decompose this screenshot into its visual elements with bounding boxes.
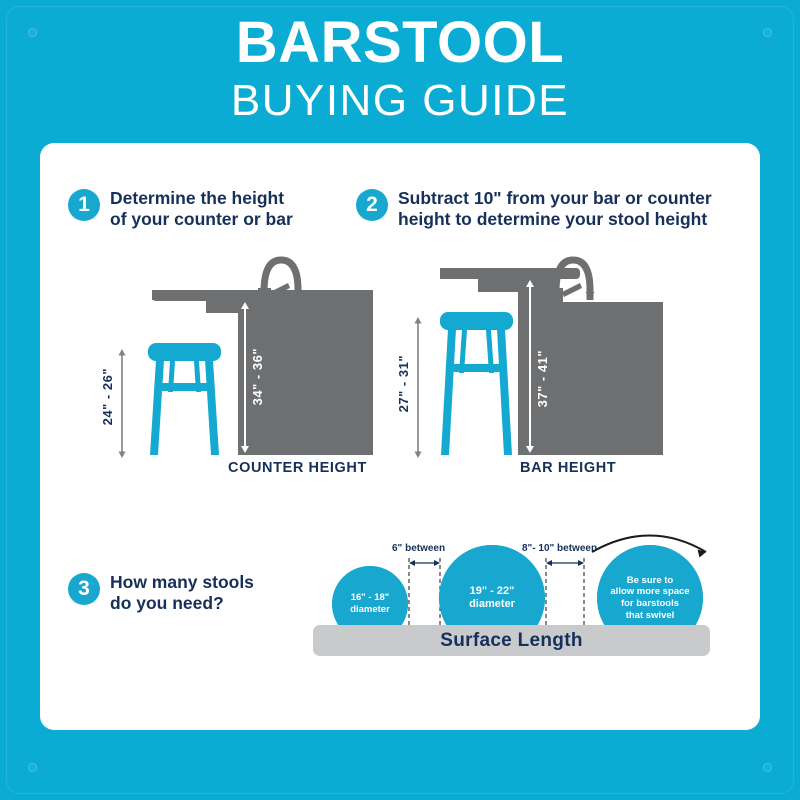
stool-1-diameter-unit: diameter: [350, 604, 390, 616]
gap-2-arrow-left: [546, 560, 552, 566]
gap-2-arrow-right: [578, 560, 584, 566]
gap-2-label: 8"- 10" between: [522, 543, 597, 554]
surface-length-bar: Surface Length: [313, 625, 710, 656]
gap-1-arrow-left: [409, 560, 415, 566]
gap-1-label: 6" between: [392, 543, 445, 554]
stool-spacing-diagram: 6" between 8"- 10" between 16" - 18" dia…: [0, 0, 800, 800]
spacing-diagram-svg: [0, 0, 800, 800]
stool-1-diameter-value: 16" - 18": [351, 592, 390, 604]
poster-background: BARSTOOL BUYING GUIDE 1 Determine the he…: [0, 0, 800, 800]
gap-1-arrow-right: [434, 560, 440, 566]
stool-2-diameter-unit: diameter: [469, 598, 515, 611]
surface-length-label: Surface Length: [440, 630, 583, 652]
stool-2-diameter-value: 19" - 22": [470, 585, 515, 598]
